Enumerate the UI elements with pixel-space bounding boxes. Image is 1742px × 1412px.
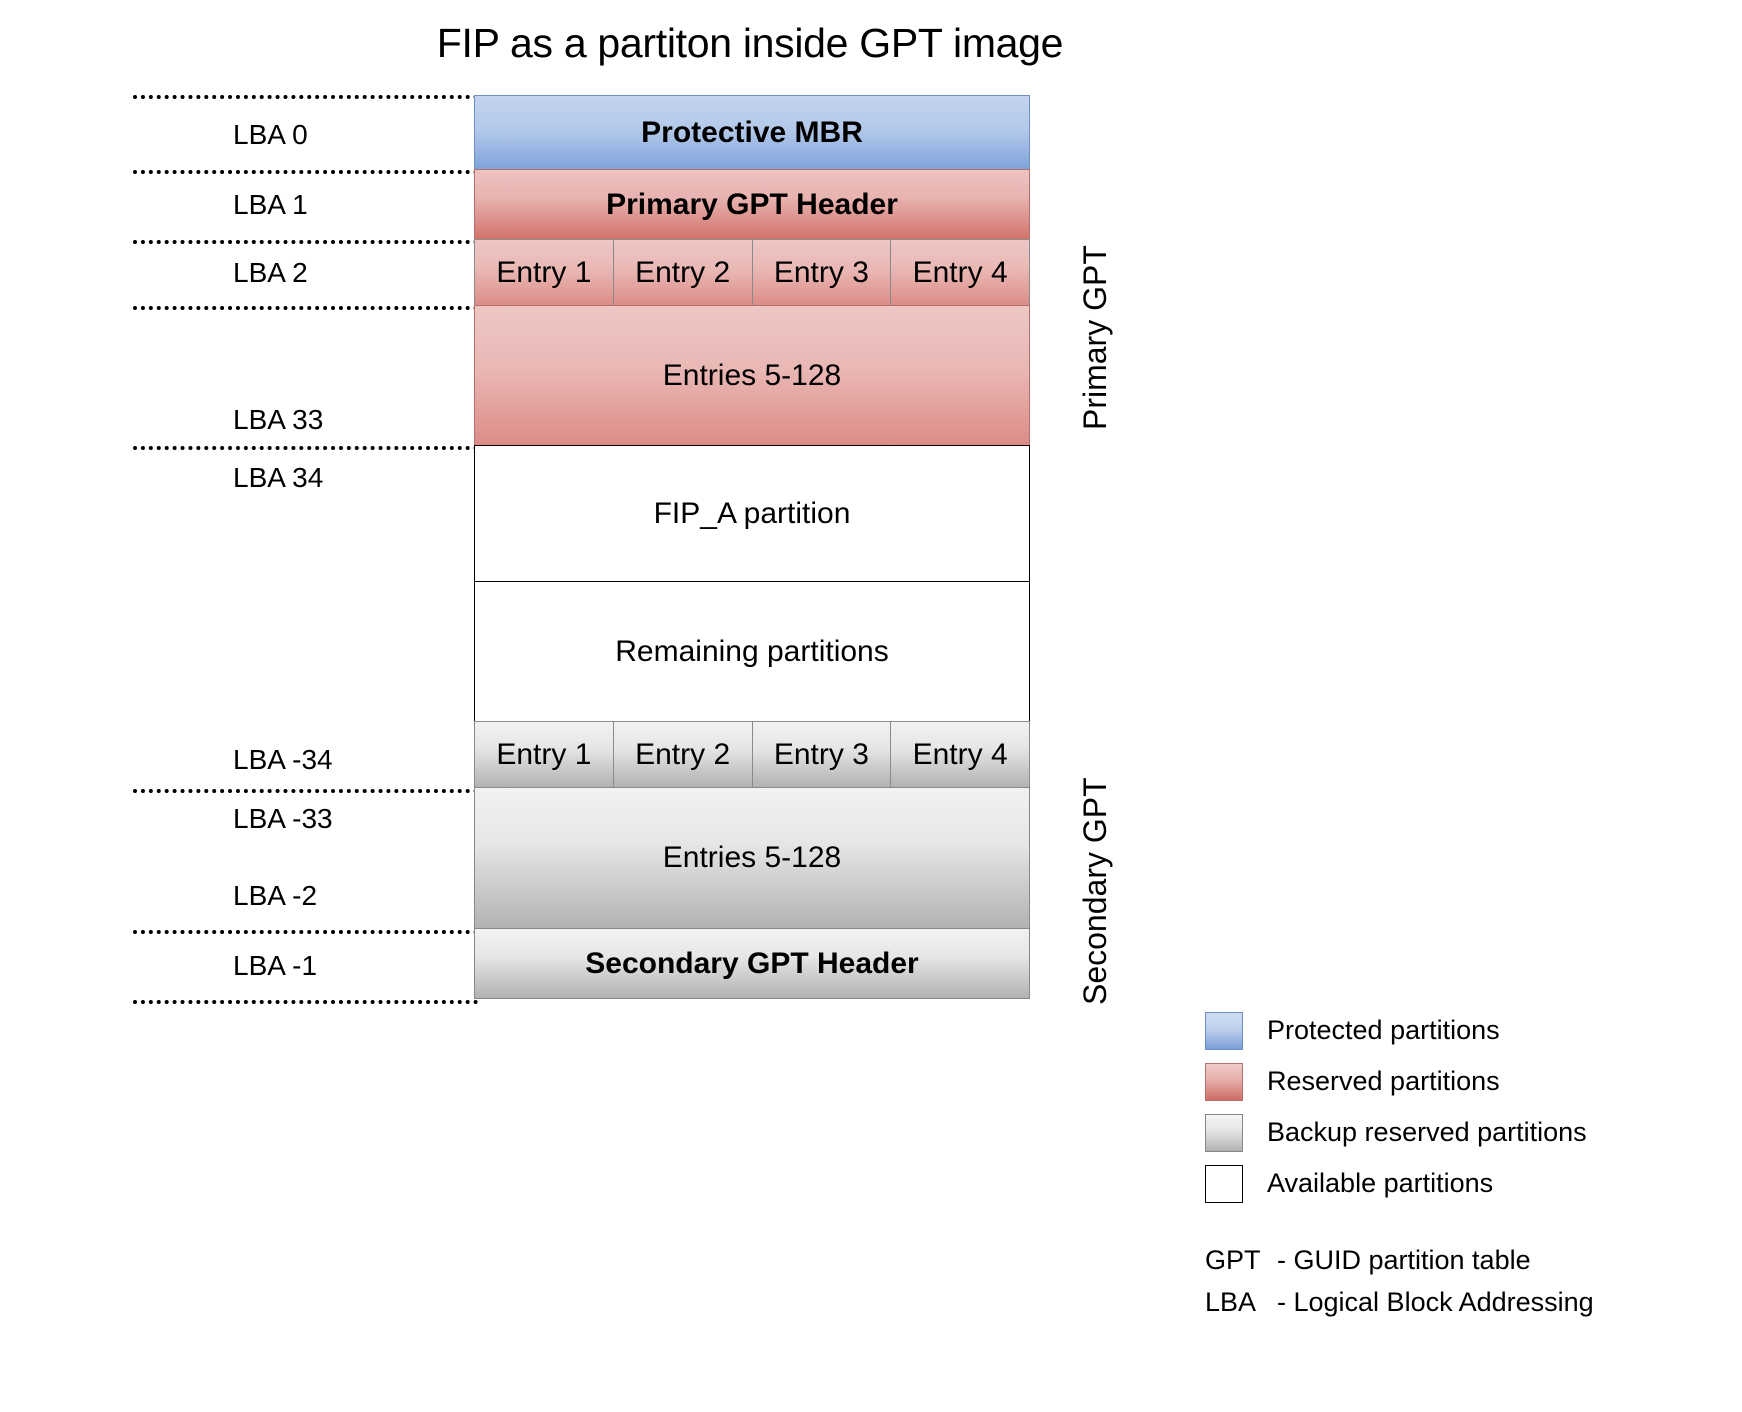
gpt-layout-stack: Protective MBR Primary GPT Header Entry … <box>474 95 1030 999</box>
lba-label--2: LBA -2 <box>233 880 317 912</box>
block-fip-a-partition[interactable]: FIP_A partition <box>474 445 1030 582</box>
block-label: Primary GPT Header <box>606 188 898 222</box>
legend-swatch-backup-reserved-icon <box>1205 1114 1243 1152</box>
abbreviation-value: - Logical Block Addressing <box>1277 1287 1594 1318</box>
secondary-entry-row: Entry 1 Entry 2 Entry 3 Entry 4 <box>474 721 1030 788</box>
primary-entry-2[interactable]: Entry 2 <box>613 239 753 306</box>
block-protective-mbr[interactable]: Protective MBR <box>474 95 1030 170</box>
block-label: Protective MBR <box>641 116 863 150</box>
secondary-entry-1[interactable]: Entry 1 <box>474 721 614 788</box>
lba-label-1: LBA 1 <box>233 189 308 221</box>
lba-label-2: LBA 2 <box>233 257 308 289</box>
guide-line-lba1-top <box>133 170 478 174</box>
diagram-canvas: FIP as a partiton inside GPT image LBA 0… <box>0 0 1742 1412</box>
block-label: Remaining partitions <box>615 635 888 669</box>
legend-label: Available partitions <box>1267 1168 1493 1199</box>
entry-label: Entry 2 <box>635 256 730 290</box>
entry-label: Entry 1 <box>496 256 591 290</box>
entry-label: Entry 3 <box>774 738 869 772</box>
legend-swatch-protected-icon <box>1205 1012 1243 1050</box>
block-secondary-gpt-header[interactable]: Secondary GPT Header <box>474 928 1030 999</box>
entry-label: Entry 1 <box>496 738 591 772</box>
lba-label-0: LBA 0 <box>233 119 308 151</box>
block-label: Entries 5-128 <box>663 359 841 393</box>
lba-label-34: LBA 34 <box>233 462 323 494</box>
block-label: FIP_A partition <box>654 497 851 531</box>
guide-line-bottom <box>133 1000 478 1004</box>
abbreviation-value: - GUID partition table <box>1277 1245 1531 1276</box>
side-label-secondary-gpt: Secondary GPT <box>1077 777 1114 1005</box>
primary-entry-3[interactable]: Entry 3 <box>752 239 892 306</box>
legend-item-protected: Protected partitions <box>1205 1005 1587 1056</box>
legend-label: Reserved partitions <box>1267 1066 1500 1097</box>
entry-label: Entry 2 <box>635 738 730 772</box>
guide-line-lba34-top <box>133 446 478 450</box>
primary-entry-1[interactable]: Entry 1 <box>474 239 614 306</box>
guide-line-lba-1-top <box>133 930 478 934</box>
abbreviation-list: GPT - GUID partition table LBA - Logical… <box>1205 1245 1594 1329</box>
lba-label-33: LBA 33 <box>233 404 323 436</box>
legend-label: Backup reserved partitions <box>1267 1117 1587 1148</box>
block-remaining-partitions[interactable]: Remaining partitions <box>474 581 1030 722</box>
lba-label--1: LBA -1 <box>233 950 317 982</box>
guide-line-lba-33-top <box>133 789 478 793</box>
abbreviation-key: LBA <box>1205 1287 1277 1318</box>
secondary-entry-2[interactable]: Entry 2 <box>613 721 753 788</box>
legend-swatch-available-icon <box>1205 1165 1243 1203</box>
block-secondary-entries-5-128[interactable]: Entries 5-128 <box>474 787 1030 929</box>
legend-item-backup-reserved: Backup reserved partitions <box>1205 1107 1587 1158</box>
legend-label: Protected partitions <box>1267 1015 1500 1046</box>
entry-label: Entry 3 <box>774 256 869 290</box>
entry-label: Entry 4 <box>913 256 1008 290</box>
page-title: FIP as a partiton inside GPT image <box>0 20 1500 67</box>
primary-entry-4[interactable]: Entry 4 <box>890 239 1030 306</box>
entry-label: Entry 4 <box>913 738 1008 772</box>
abbreviation-gpt: GPT - GUID partition table <box>1205 1245 1594 1287</box>
side-label-primary-gpt: Primary GPT <box>1077 245 1114 430</box>
legend-item-available: Available partitions <box>1205 1158 1587 1209</box>
legend-item-reserved: Reserved partitions <box>1205 1056 1587 1107</box>
lba-label--33: LBA -33 <box>233 803 333 835</box>
primary-entry-row: Entry 1 Entry 2 Entry 3 Entry 4 <box>474 239 1030 306</box>
secondary-entry-4[interactable]: Entry 4 <box>890 721 1030 788</box>
guide-line-lba2-top <box>133 240 478 244</box>
block-primary-gpt-header[interactable]: Primary GPT Header <box>474 169 1030 240</box>
block-label: Secondary GPT Header <box>585 947 918 981</box>
guide-line-lba0-top <box>133 95 478 99</box>
secondary-entry-3[interactable]: Entry 3 <box>752 721 892 788</box>
lba-label--34: LBA -34 <box>233 744 333 776</box>
abbreviation-lba: LBA - Logical Block Addressing <box>1205 1287 1594 1329</box>
legend: Protected partitions Reserved partitions… <box>1205 1005 1587 1209</box>
legend-swatch-reserved-icon <box>1205 1063 1243 1101</box>
abbreviation-key: GPT <box>1205 1245 1277 1276</box>
guide-line-lba3-top <box>133 306 478 310</box>
block-label: Entries 5-128 <box>663 841 841 875</box>
block-primary-entries-5-128[interactable]: Entries 5-128 <box>474 305 1030 446</box>
